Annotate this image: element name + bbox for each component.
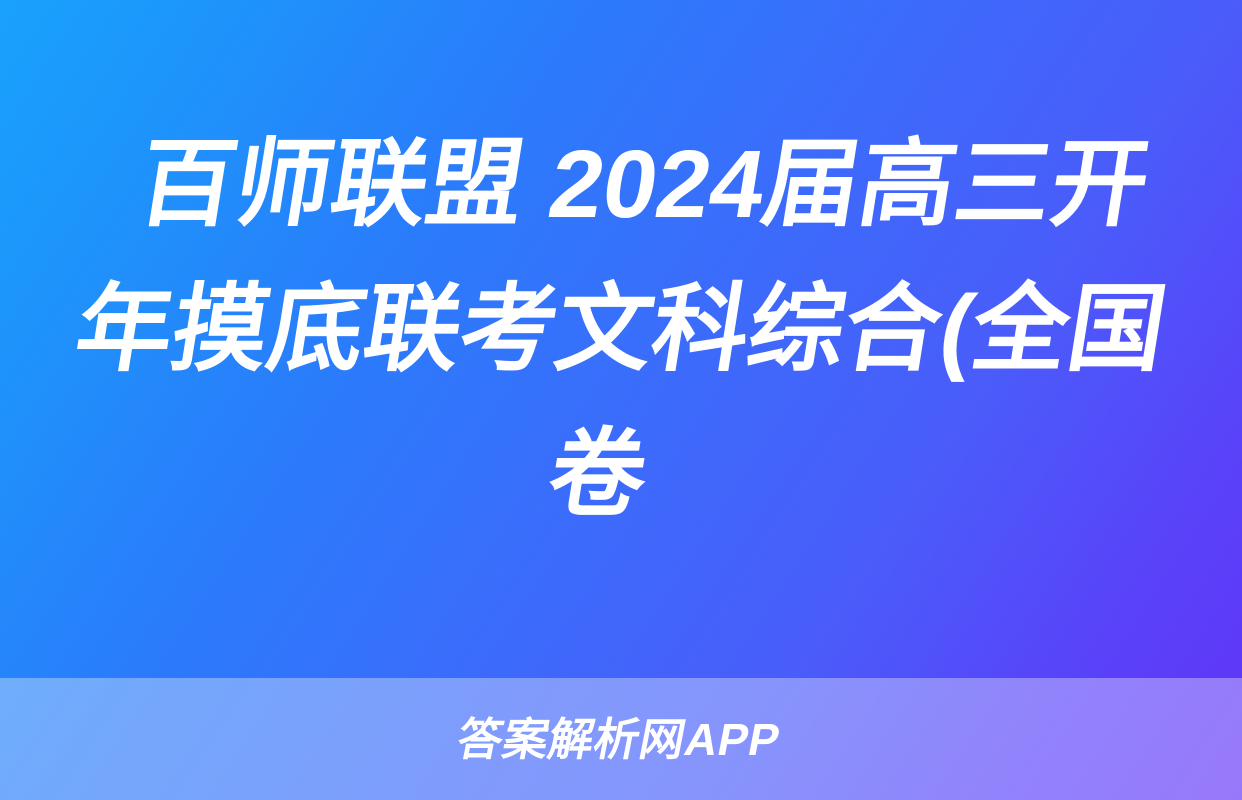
banner-card: 百师联盟 2024届高三开年摸底联考文科综合(全国卷 答案解析网APP bbox=[0, 0, 1242, 800]
banner-headline: 百师联盟 2024届高三开年摸底联考文科综合(全国卷 bbox=[37, 112, 1206, 547]
watermark-text: 答案解析网APP bbox=[454, 717, 788, 762]
watermark-band: 答案解析网APP bbox=[0, 678, 1242, 800]
headline-container: 百师联盟 2024届高三开年摸底联考文科综合(全国卷 bbox=[0, 0, 1242, 678]
